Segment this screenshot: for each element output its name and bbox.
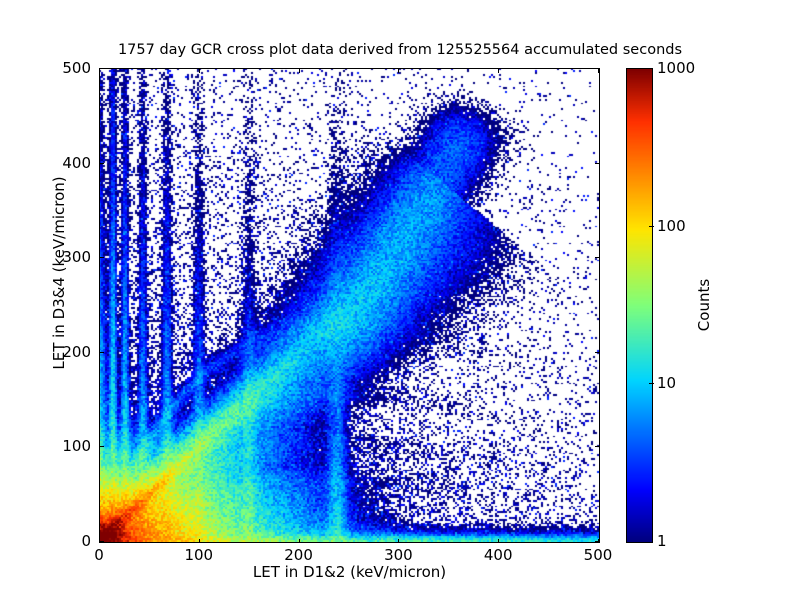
y-tick-300: [595, 257, 599, 258]
y-tick-0: [100, 541, 104, 542]
colorbar-label: Counts: [695, 155, 713, 455]
y-tick-300: [100, 257, 104, 258]
plot-area[interactable]: [99, 68, 600, 543]
x-axis-label: LET in D1&2 (keV/micron): [99, 563, 600, 581]
y-axis-label: LET in D3&4 (keV/micron): [50, 123, 68, 423]
y-tick-400: [595, 163, 599, 164]
colorbar-gradient: [627, 69, 652, 542]
density-heatmap: [100, 69, 599, 542]
y-ticklabel-500: 500: [39, 59, 91, 77]
title-line-1: 1757 day GCR cross plot data derived fro…: [0, 42, 800, 59]
y-tick-500: [595, 68, 599, 69]
y-tick-400: [100, 163, 104, 164]
y-tick-100: [100, 446, 104, 447]
x-tick-100: [199, 539, 200, 543]
y-tick-200: [100, 352, 104, 353]
y-tick-500: [100, 68, 104, 69]
x-tick-500: [598, 69, 599, 73]
colorbar-tick-10: [649, 383, 654, 384]
x-ticklabel-400: 400: [468, 546, 528, 564]
y-tick-100: [595, 446, 599, 447]
colorbar-ticklabel-1000: 1000: [657, 59, 695, 77]
x-ticklabel-500: 500: [568, 546, 628, 564]
colorbar-ticklabel-10: 10: [657, 374, 676, 392]
x-tick-200: [299, 539, 300, 543]
x-ticklabel-100: 100: [169, 546, 229, 564]
x-tick-100: [199, 69, 200, 73]
y-ticklabel-100: 100: [39, 437, 91, 455]
x-tick-200: [299, 69, 300, 73]
x-tick-300: [398, 539, 399, 543]
figure-canvas: 1757 day GCR cross plot data derived fro…: [0, 0, 800, 600]
y-tick-200: [595, 352, 599, 353]
x-tick-300: [398, 69, 399, 73]
colorbar-ticklabel-100: 100: [657, 217, 686, 235]
y-ticklabel-0: 0: [39, 532, 91, 550]
colorbar-tick-100: [649, 226, 654, 227]
x-ticklabel-300: 300: [368, 546, 428, 564]
colorbar-ticklabel-1: 1: [657, 532, 667, 550]
x-ticklabel-200: 200: [269, 546, 329, 564]
x-tick-400: [498, 69, 499, 73]
colorbar[interactable]: [626, 68, 653, 543]
y-tick-0: [595, 541, 599, 542]
x-tick-0: [99, 69, 100, 73]
x-tick-400: [498, 539, 499, 543]
